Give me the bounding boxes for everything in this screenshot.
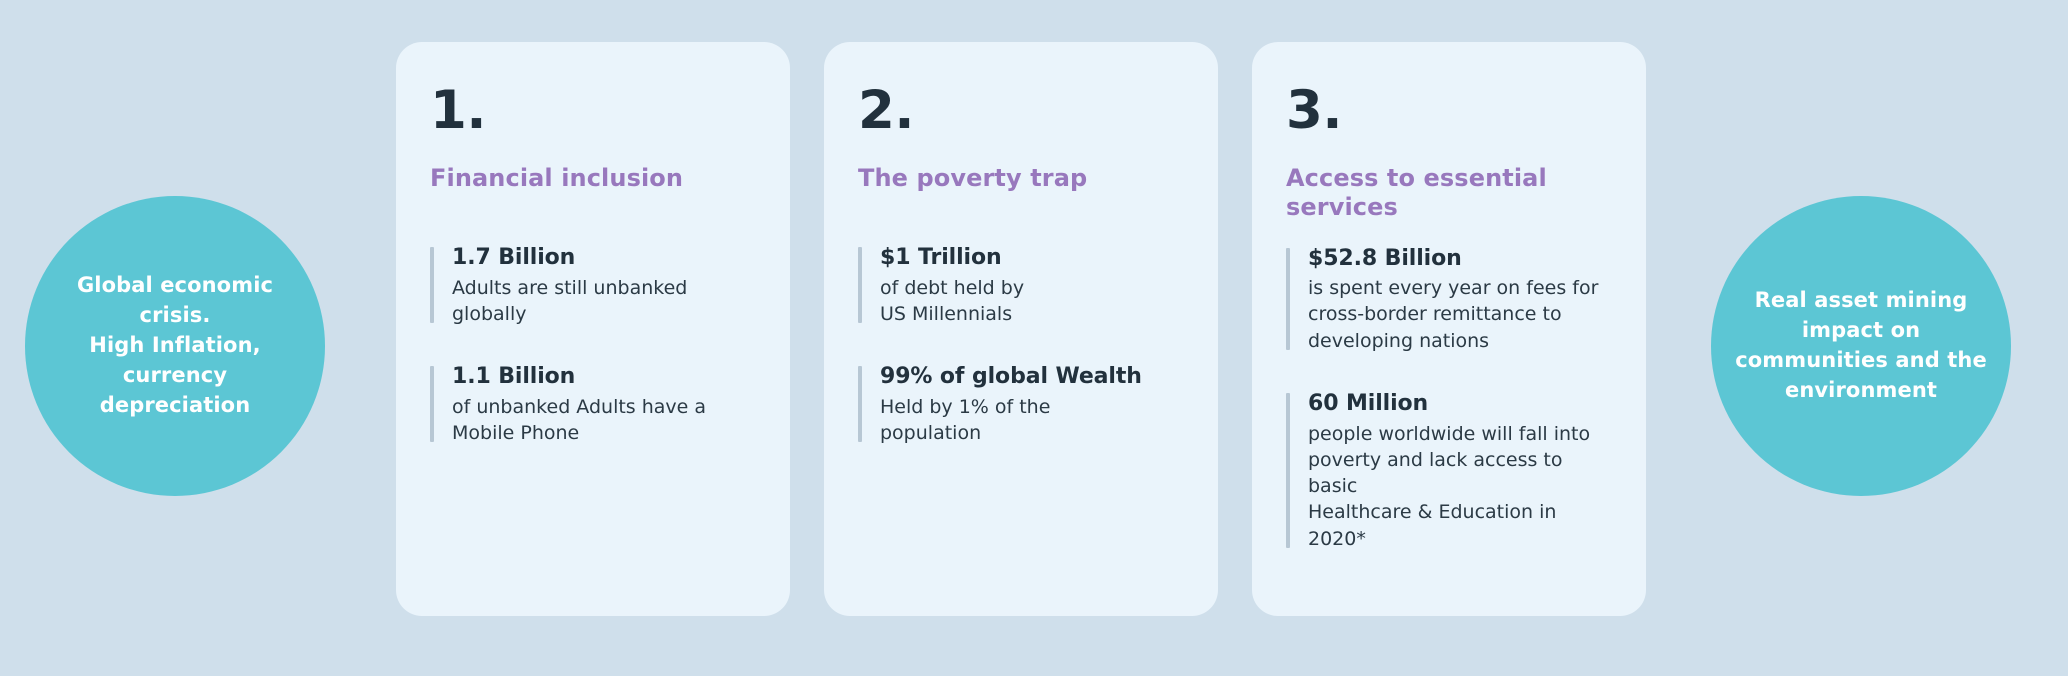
stat-value: 1.7 Billion (452, 244, 756, 272)
stat-accent-bar-icon (430, 247, 434, 323)
infographic-stage: Global economic crisis. High Inflation, … (0, 0, 2068, 676)
stat-item: $1 Trillion of debt held by US Millennia… (858, 244, 1184, 327)
stat-accent-bar-icon (858, 247, 862, 323)
stat-item: 1.1 Billion of unbanked Adults have a Mo… (430, 363, 756, 446)
left-callout-text: Global economic crisis. High Inflation, … (25, 271, 325, 420)
card-title: The poverty trap (858, 164, 1184, 222)
card-title: Financial inclusion (430, 164, 756, 222)
right-callout-circle: Real asset mining impact on communities … (1711, 196, 2011, 496)
stat-list: $52.8 Billion is spent every year on fee… (1286, 245, 1612, 552)
stat-description: Adults are still unbanked globally (452, 275, 756, 327)
card-title: Access to essential services (1286, 164, 1612, 223)
stat-description: is spent every year on fees for cross-bo… (1308, 275, 1612, 354)
left-callout-circle: Global economic crisis. High Inflation, … (25, 196, 325, 496)
stat-value: 60 Million (1308, 390, 1612, 418)
stat-value: 99% of global Wealth (880, 363, 1184, 391)
stat-accent-bar-icon (1286, 393, 1290, 548)
card-number: 2. (858, 84, 1184, 137)
stat-accent-bar-icon (858, 366, 862, 442)
right-callout-text: Real asset mining impact on communities … (1711, 286, 2011, 405)
stat-description: people worldwide will fall into poverty … (1308, 421, 1612, 552)
stat-accent-bar-icon (430, 366, 434, 442)
stat-description: Held by 1% of the population (880, 394, 1184, 446)
stat-value: $52.8 Billion (1308, 245, 1612, 273)
stat-value: $1 Trillion (880, 244, 1184, 272)
stat-description: of unbanked Adults have a Mobile Phone (452, 394, 756, 446)
card-number: 3. (1286, 84, 1612, 137)
stat-list: 1.7 Billion Adults are still unbanked gl… (430, 244, 756, 446)
stat-item: 1.7 Billion Adults are still unbanked gl… (430, 244, 756, 327)
stat-item: 60 Million people worldwide will fall in… (1286, 390, 1612, 552)
card-poverty-trap[interactable]: 2. The poverty trap $1 Trillion of debt … (824, 42, 1218, 616)
stat-item: 99% of global Wealth Held by 1% of the p… (858, 363, 1184, 446)
card-financial-inclusion[interactable]: 1. Financial inclusion 1.7 Billion Adult… (396, 42, 790, 616)
cards-row: 1. Financial inclusion 1.7 Billion Adult… (396, 42, 1646, 616)
stat-item: $52.8 Billion is spent every year on fee… (1286, 245, 1612, 354)
stat-value: 1.1 Billion (452, 363, 756, 391)
card-number: 1. (430, 84, 756, 137)
stat-description: of debt held by US Millennials (880, 275, 1184, 327)
card-access-essential-services[interactable]: 3. Access to essential services $52.8 Bi… (1252, 42, 1646, 616)
stat-accent-bar-icon (1286, 248, 1290, 350)
stat-list: $1 Trillion of debt held by US Millennia… (858, 244, 1184, 446)
